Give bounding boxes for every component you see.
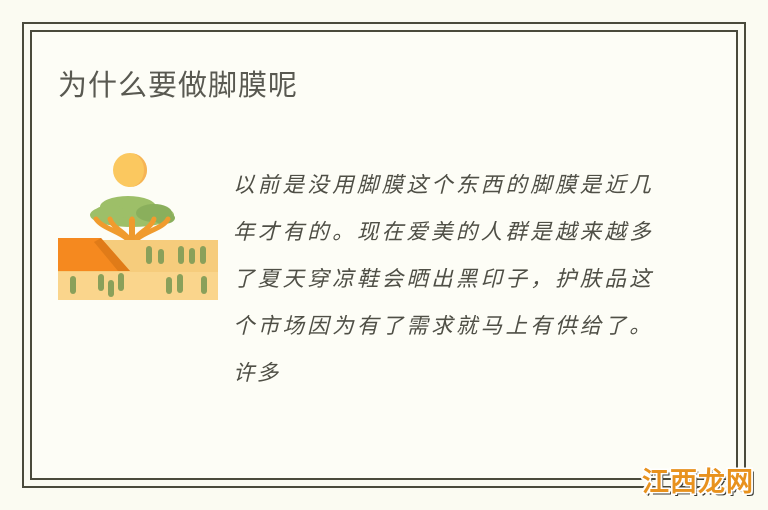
article-content: 以前是没用脚膜这个东西的脚膜是近几年才有的。现在爱美的人群是越来越多了夏天穿凉鞋… — [58, 140, 688, 410]
site-watermark: 江西龙网 — [642, 468, 754, 498]
terrain-lower-band — [58, 272, 218, 300]
page-title: 为什么要做脚膜呢 — [58, 66, 298, 104]
desert-tree-sunset-illustration — [58, 145, 218, 300]
article-card-page: 为什么要做脚膜呢 — [0, 0, 768, 510]
sun-icon — [113, 153, 147, 187]
article-body-text: 以前是没用脚膜这个东西的脚膜是近几年才有的。现在爱美的人群是越来越多了夏天穿凉鞋… — [233, 162, 653, 397]
